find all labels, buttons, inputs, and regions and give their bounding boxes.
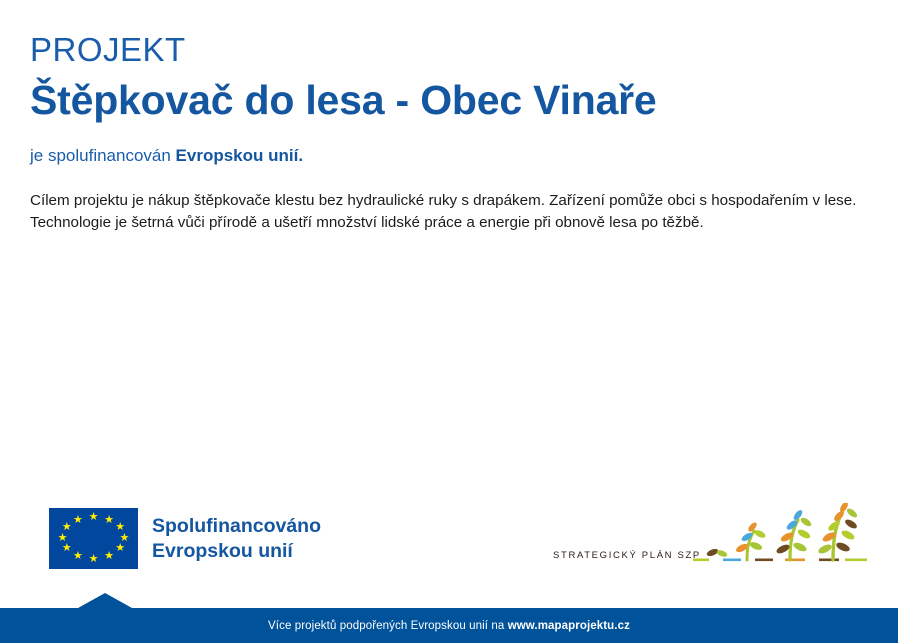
eu-star: ★ bbox=[73, 551, 83, 561]
cofunding-emphasis: Evropskou unií. bbox=[176, 146, 304, 165]
eu-star: ★ bbox=[104, 551, 114, 561]
cofunding-prefix: je spolufinancován bbox=[30, 146, 176, 165]
eu-star: ★ bbox=[115, 522, 125, 532]
eu-star: ★ bbox=[89, 512, 99, 522]
eu-cofunding-logo: ★ ★ ★ ★ ★ ★ ★ ★ ★ ★ ★ ★ Spolufinancováno… bbox=[49, 508, 321, 569]
mapaprojektu-link[interactable]: www.mapaprojektu.cz bbox=[508, 620, 630, 632]
eu-logo-text: Spolufinancováno Evropskou unií bbox=[152, 514, 321, 564]
eu-star: ★ bbox=[115, 543, 125, 553]
szp-logo: STRATEGICKÝ PLÁN SZP bbox=[553, 503, 873, 571]
bottom-bar-notch bbox=[78, 593, 132, 608]
eu-logo-line-1: Spolufinancováno bbox=[152, 514, 321, 539]
poster-content: PROJEKT Štěpkovač do lesa - Obec Vinaře … bbox=[30, 30, 868, 233]
bottom-bar: Více projektů podpořených Evropskou unií… bbox=[0, 608, 898, 643]
project-poster: PROJEKT Štěpkovač do lesa - Obec Vinaře … bbox=[0, 0, 898, 643]
cofunding-statement: je spolufinancován Evropskou unií. bbox=[30, 144, 868, 168]
page-title: Štěpkovač do lesa - Obec Vinaře bbox=[30, 74, 868, 126]
eu-star: ★ bbox=[58, 533, 68, 543]
project-description: Cílem projektu je nákup štěpkovače klest… bbox=[30, 190, 868, 233]
eu-logo-line-2: Evropskou unií bbox=[152, 539, 321, 564]
eu-star: ★ bbox=[73, 515, 83, 525]
eu-star: ★ bbox=[119, 533, 129, 543]
bottom-bar-prefix: Více projektů podpořených Evropskou unií… bbox=[268, 620, 508, 632]
eu-star: ★ bbox=[104, 515, 114, 525]
eu-flag-icon: ★ ★ ★ ★ ★ ★ ★ ★ ★ ★ ★ ★ bbox=[49, 508, 138, 569]
growing-plants-icon bbox=[693, 503, 873, 569]
eu-star: ★ bbox=[89, 554, 99, 564]
eu-star: ★ bbox=[62, 522, 72, 532]
bottom-bar-text: Více projektů podpořených Evropskou unií… bbox=[268, 619, 630, 633]
poster-eyebrow: PROJEKT bbox=[30, 30, 868, 70]
eu-star: ★ bbox=[62, 543, 72, 553]
szp-logo-caption: STRATEGICKÝ PLÁN SZP bbox=[553, 550, 701, 561]
